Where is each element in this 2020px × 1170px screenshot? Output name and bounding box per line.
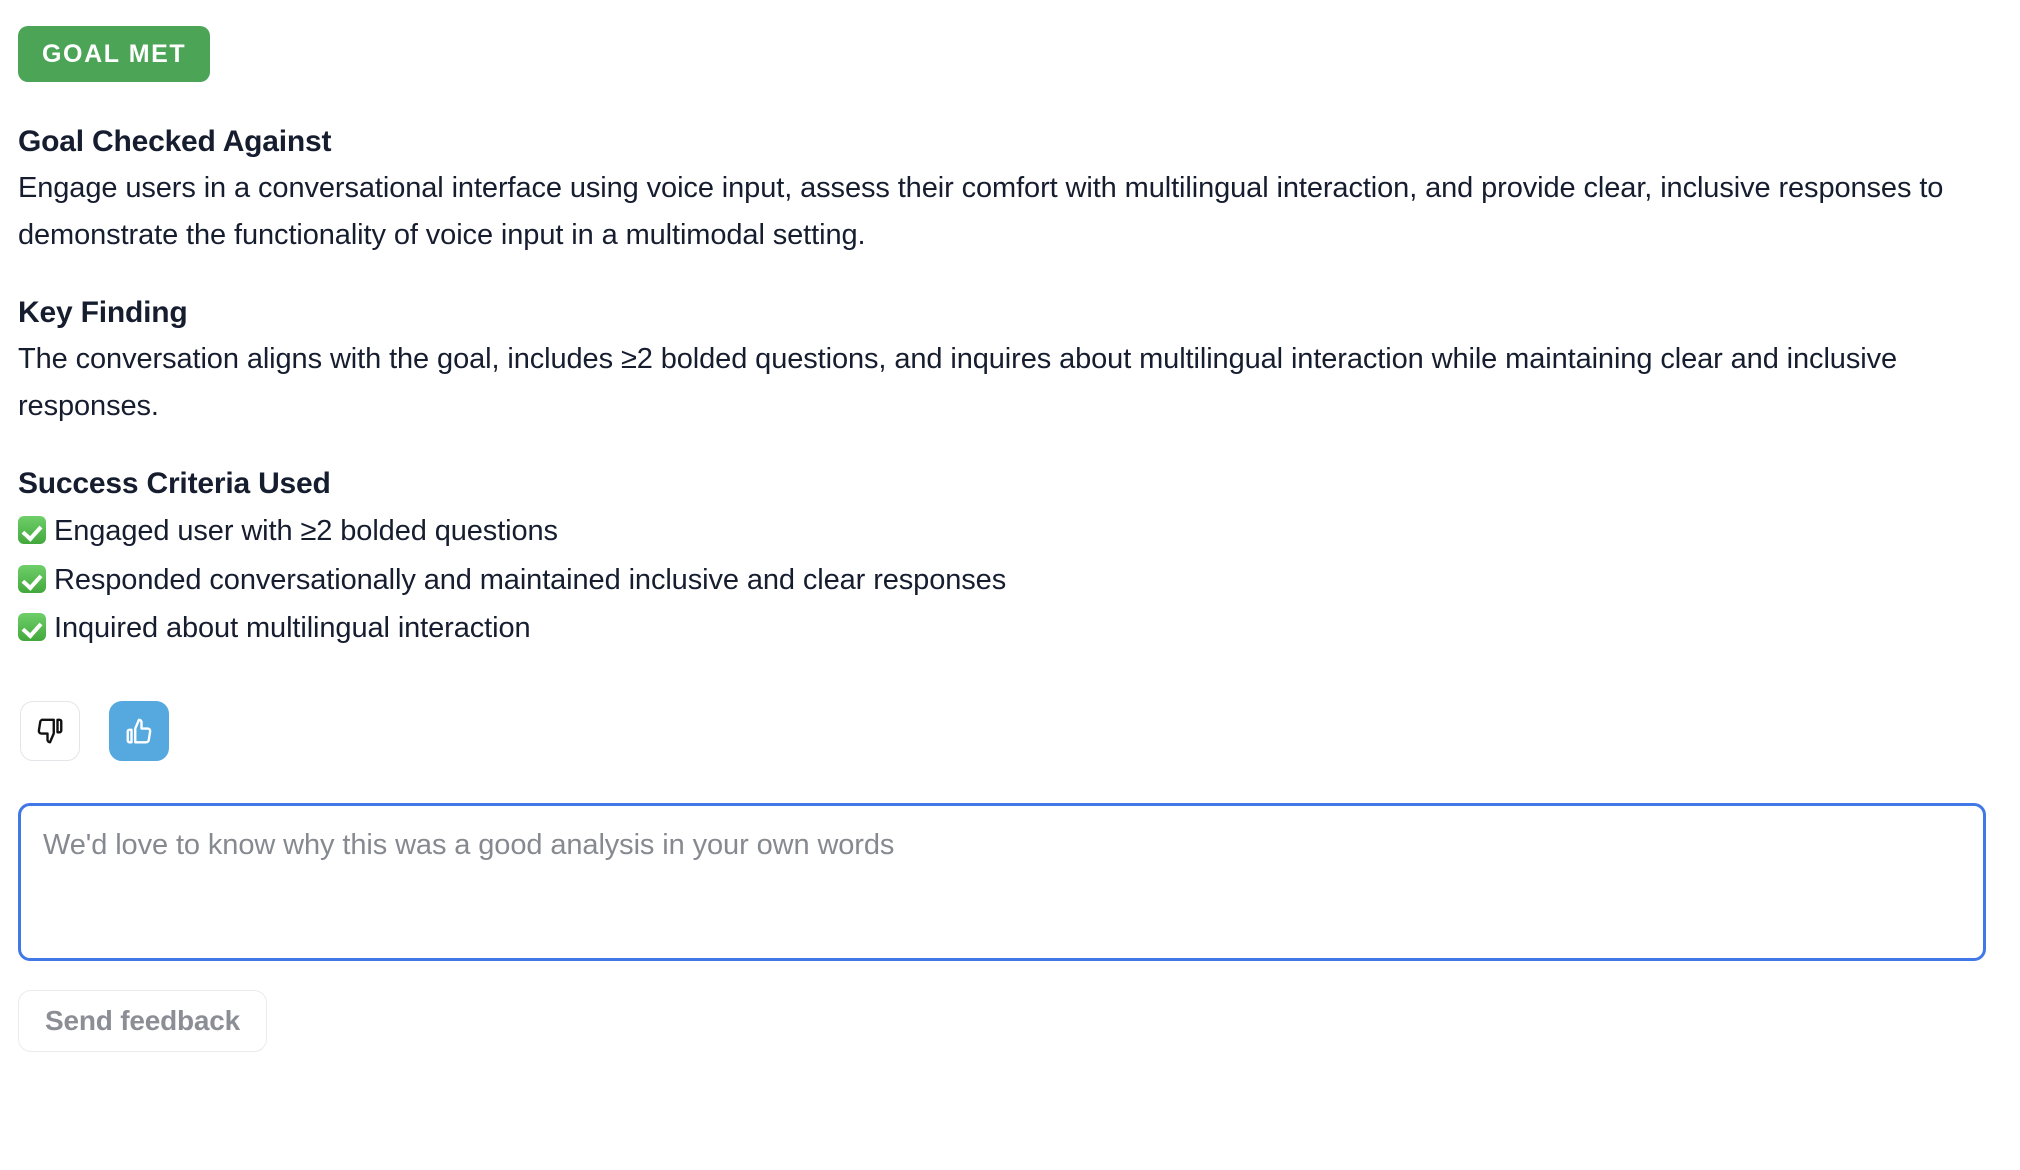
thumbs-down-button[interactable] bbox=[20, 701, 80, 761]
status-badge-row: GOAL MET bbox=[18, 0, 2002, 82]
thumbs-up-button[interactable] bbox=[109, 701, 169, 761]
list-item-label: Inquired about multilingual interaction bbox=[54, 604, 531, 653]
white-check-mark-emoji bbox=[18, 565, 46, 593]
list-item: Engaged user with ≥2 bolded questions bbox=[18, 507, 2002, 556]
key-finding-text: The conversation aligns with the goal, i… bbox=[18, 336, 2002, 430]
list-item-label: Responded conversationally and maintaine… bbox=[54, 556, 1006, 605]
send-feedback-row: Send feedback bbox=[18, 990, 2002, 1052]
white-check-mark-emoji bbox=[18, 613, 46, 641]
goal-checked-against-text: Engage users in a conversational interfa… bbox=[18, 165, 2002, 259]
vote-button-row bbox=[18, 701, 2002, 761]
goal-checked-against-heading: Goal Checked Against bbox=[18, 122, 2002, 161]
key-finding-section: Key Finding The conversation aligns with… bbox=[18, 293, 2002, 430]
white-check-mark-emoji bbox=[18, 516, 46, 544]
send-feedback-button[interactable]: Send feedback bbox=[18, 990, 267, 1052]
thumbs-up-icon bbox=[124, 716, 154, 746]
status-badge: GOAL MET bbox=[18, 26, 210, 82]
list-item: Inquired about multilingual interaction bbox=[18, 604, 2002, 653]
feedback-comment-input[interactable] bbox=[18, 803, 1986, 961]
goal-checked-against-section: Goal Checked Against Engage users in a c… bbox=[18, 122, 2002, 259]
list-item-label: Engaged user with ≥2 bolded questions bbox=[54, 507, 558, 556]
analysis-feedback-panel: GOAL MET Goal Checked Against Engage use… bbox=[0, 0, 2020, 1170]
thumbs-down-icon bbox=[35, 716, 65, 746]
success-criteria-heading: Success Criteria Used bbox=[18, 464, 2002, 503]
key-finding-heading: Key Finding bbox=[18, 293, 2002, 332]
success-criteria-section: Success Criteria Used Engaged user with … bbox=[18, 464, 2002, 653]
success-criteria-list: Engaged user with ≥2 bolded questions Re… bbox=[18, 507, 2002, 653]
list-item: Responded conversationally and maintaine… bbox=[18, 556, 2002, 605]
